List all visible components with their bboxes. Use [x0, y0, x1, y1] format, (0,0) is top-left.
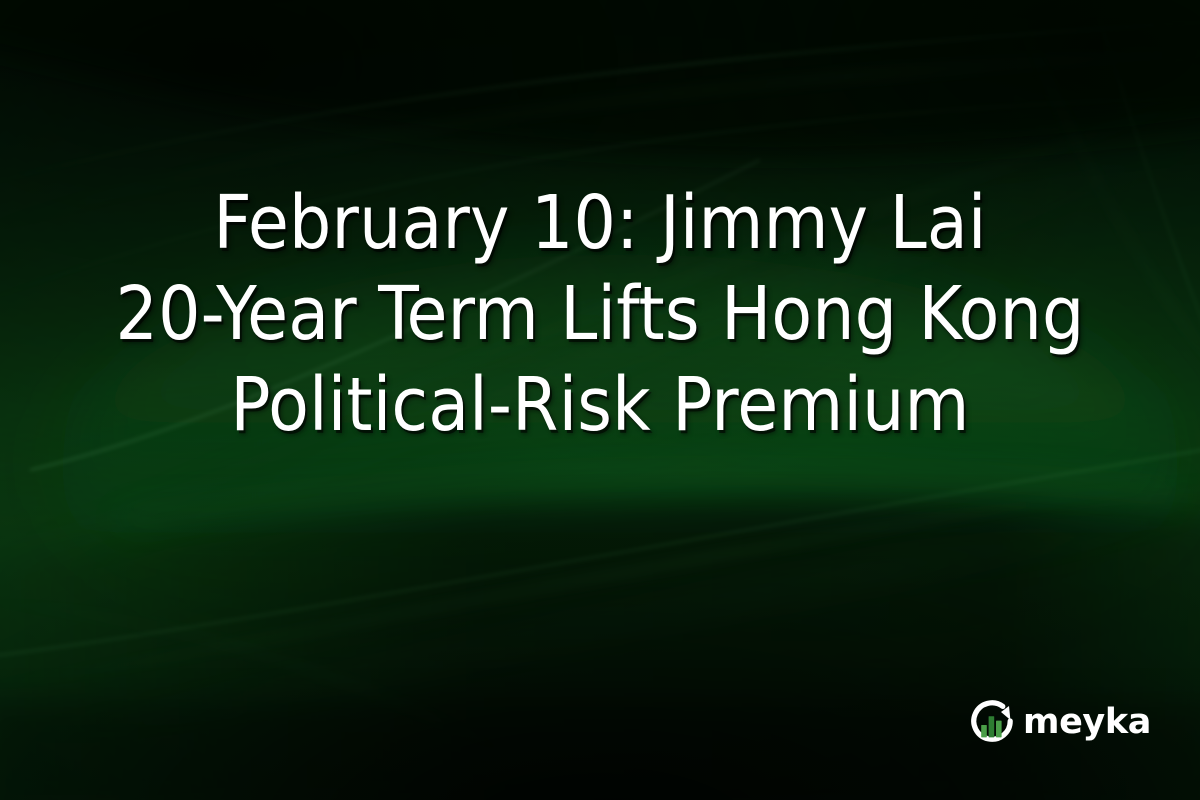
headline-line-2: 20-Year Term Lifts Hong Kong: [30, 269, 1170, 360]
meyka-bar-chart-ring-icon: [968, 698, 1016, 746]
meyka-logo: meyka: [968, 698, 1151, 746]
headline-line-1: February 10: Jimmy Lai: [30, 178, 1170, 269]
headline-title: February 10: Jimmy Lai 20-Year Term Lift…: [0, 178, 1200, 451]
news-banner-card: February 10: Jimmy Lai 20-Year Term Lift…: [0, 0, 1200, 800]
headline-line-3: Political-Risk Premium: [30, 360, 1170, 451]
meyka-wordmark: meyka: [1023, 704, 1151, 740]
